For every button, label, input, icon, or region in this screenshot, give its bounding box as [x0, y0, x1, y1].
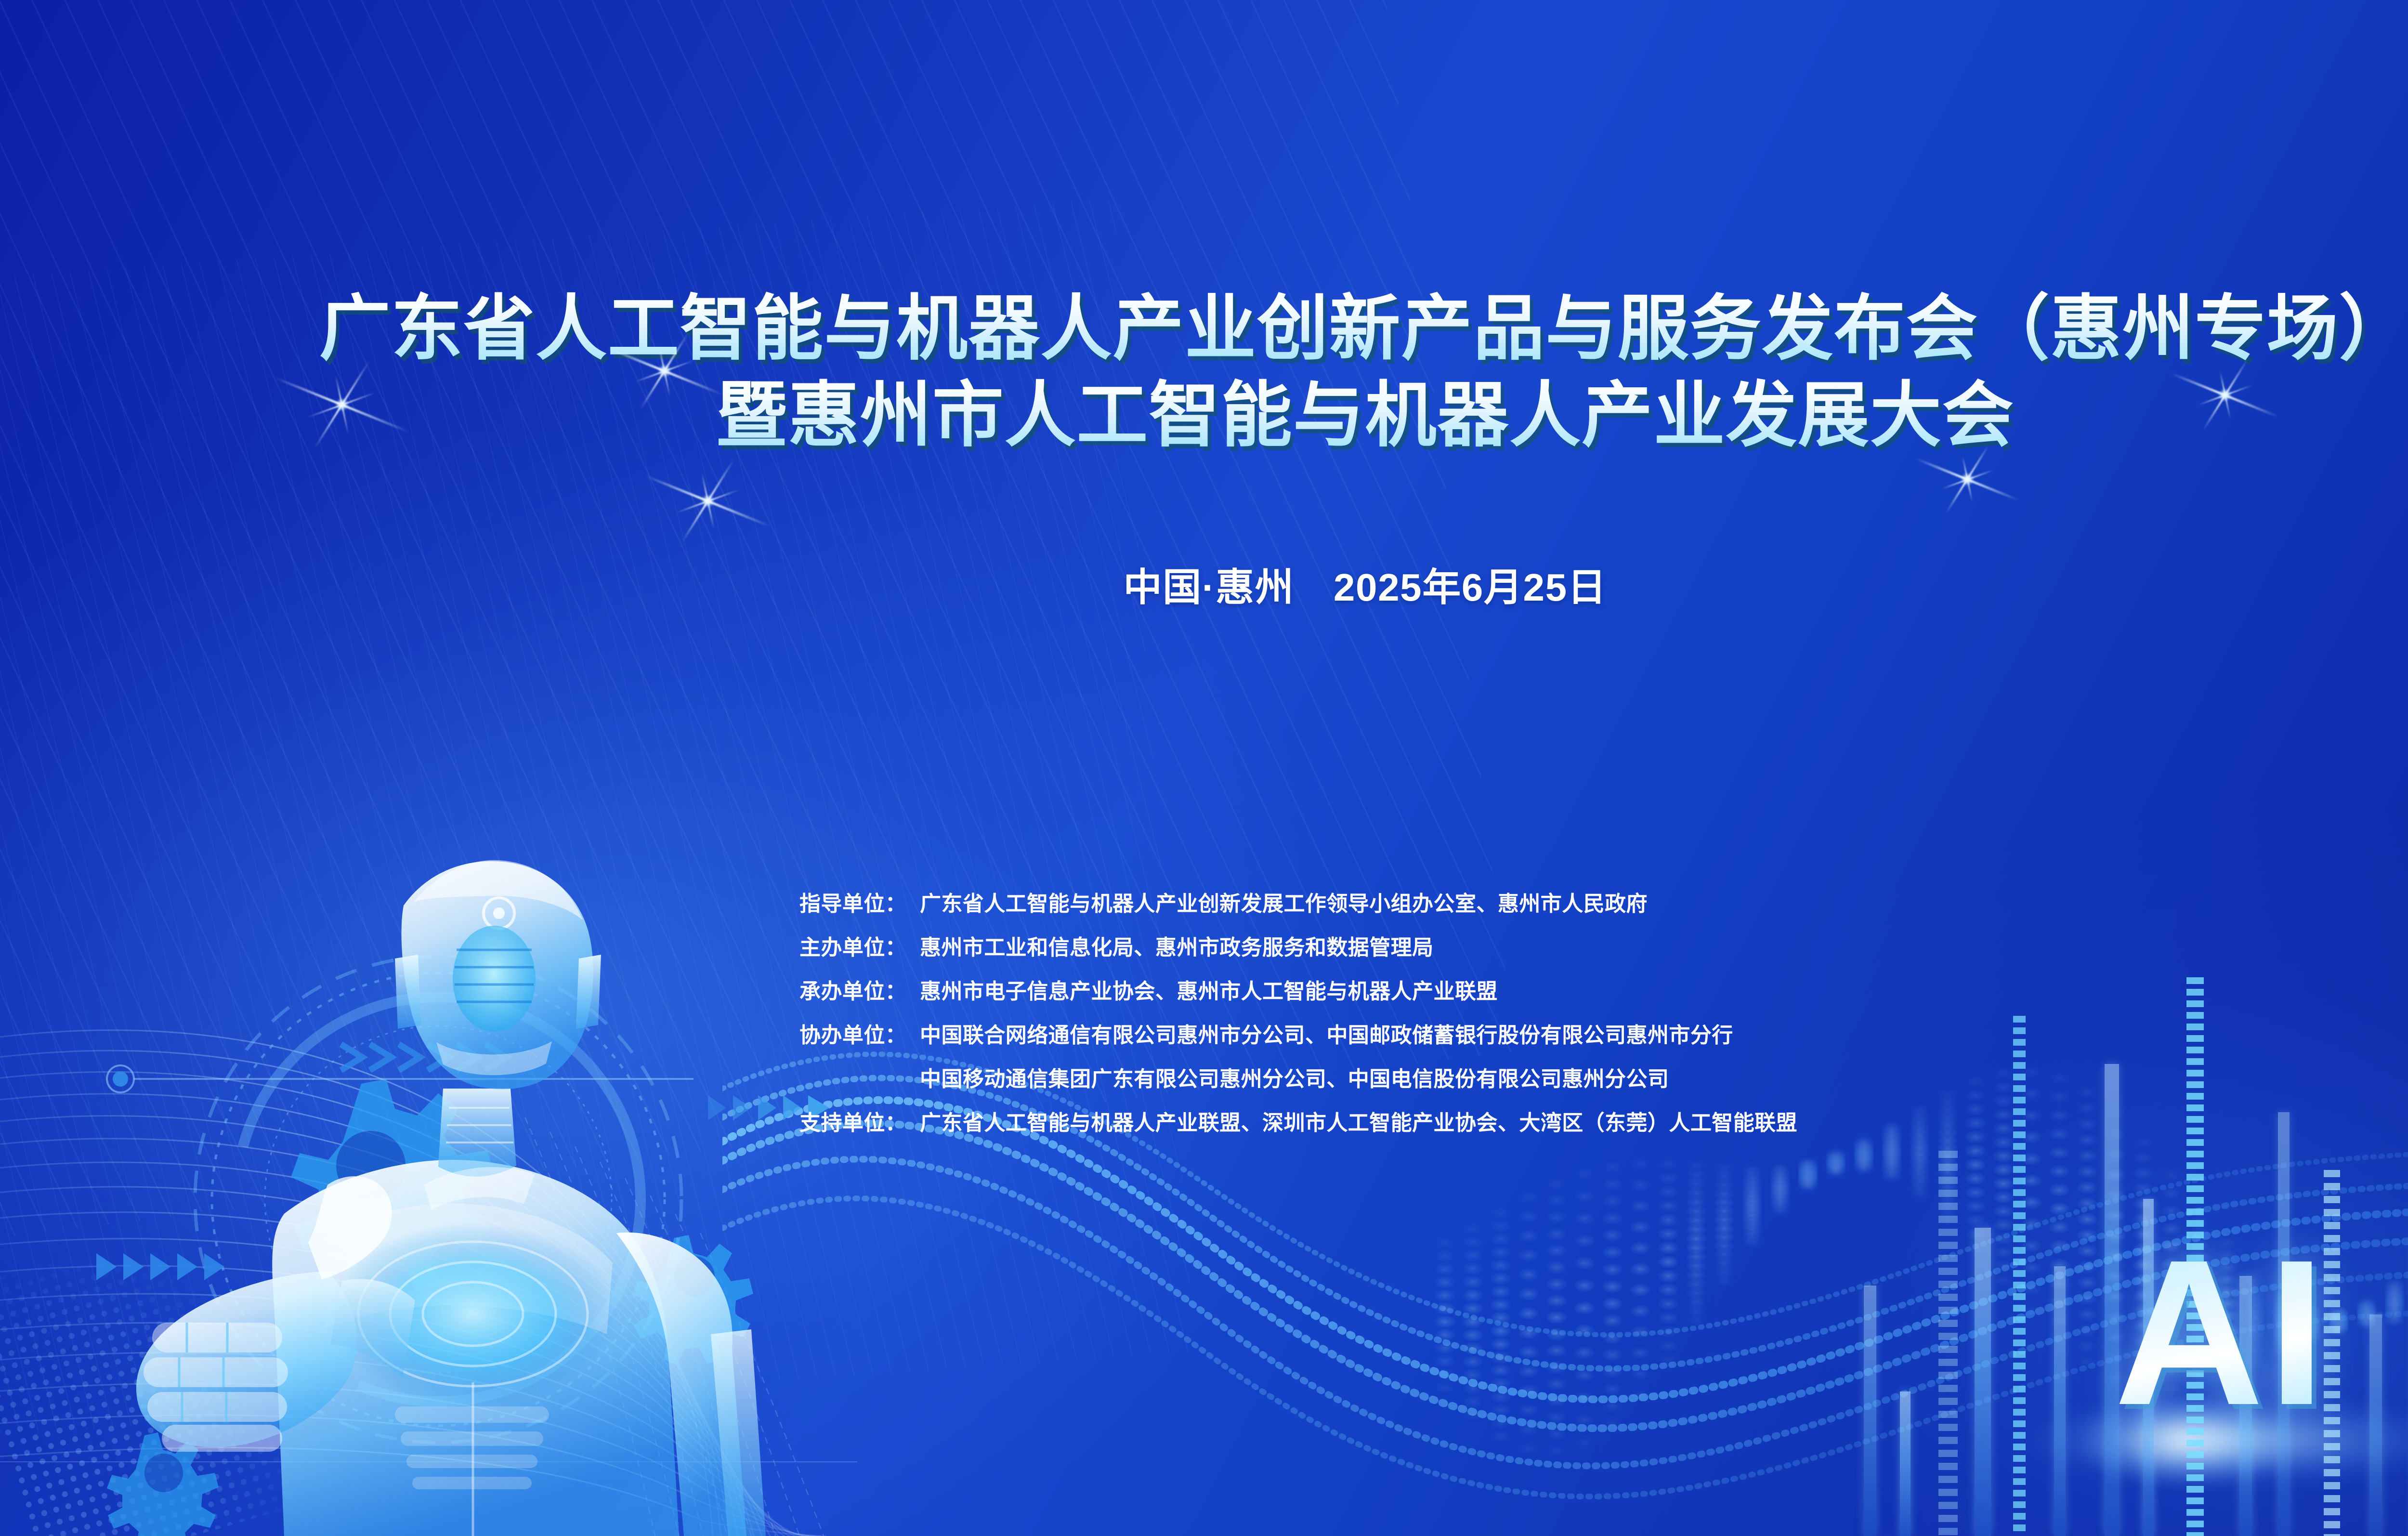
wave-dot — [1630, 1242, 1650, 1254]
equalizer-bar — [2369, 1314, 2382, 1536]
organizer-value: 广东省人工智能与机器人产业联盟、深圳市人工智能产业协会、大湾区（东莞）人工智能联… — [920, 1105, 1797, 1136]
wave-dot — [1518, 1423, 1539, 1435]
conference-backdrop-poster: AI 广东省人工智能与机器人产业创新产品与服务发布会（惠州专场） 暨惠州市人工智… — [0, 0, 2408, 1536]
wave-dot — [1463, 1249, 1483, 1261]
wave-dot — [1602, 1314, 1623, 1327]
wave-dot — [1435, 1342, 1455, 1354]
wave-dot — [1435, 1315, 1455, 1328]
wave-dot — [1518, 1191, 1539, 1204]
organizer-value: 中国联合网络通信有限公司惠州市分公司、中国邮政储蓄银行股份有限公司惠州市分行 — [920, 1018, 1733, 1049]
wave-dot — [1602, 1298, 1623, 1310]
wave-dot — [1546, 1261, 1567, 1273]
wave-dot — [1518, 1404, 1539, 1416]
equalizer-bar — [1900, 1392, 1911, 1536]
wave-dot — [1491, 1220, 1511, 1232]
organizer-row: 指导单位：广东省人工智能与机器人产业创新发展工作领导小组办公室、惠州市人民政府 — [799, 886, 1797, 917]
wave-dot — [1658, 1214, 1678, 1226]
wave-dot — [1518, 1443, 1539, 1455]
wave-dot — [1826, 1167, 1846, 1179]
wave-dot — [1435, 1276, 1455, 1288]
wave-dot — [1574, 1168, 1595, 1180]
sparkle-ray — [1941, 469, 1994, 489]
wave-dot — [1602, 1280, 1623, 1293]
wave-dot — [1463, 1329, 1483, 1341]
wave-dot — [1574, 1324, 1595, 1337]
wave-dot — [1518, 1230, 1539, 1242]
wave-dot — [1546, 1245, 1567, 1257]
wave-dot — [1798, 1181, 1818, 1193]
wave-dot — [1658, 1298, 1678, 1310]
wave-dot — [1491, 1351, 1511, 1364]
wave-dot — [1574, 1234, 1595, 1247]
wave-dot — [1574, 1212, 1595, 1225]
wave-dot — [1491, 1312, 1511, 1324]
wave-dot — [1658, 1158, 1678, 1170]
wave-dot — [1658, 1200, 1678, 1212]
organizer-row: 主办单位：惠州市工业和信息化局、惠州市政务服务和数据管理局 — [799, 930, 1797, 961]
wave-dot — [1463, 1302, 1483, 1315]
wave-dot — [1491, 1272, 1511, 1285]
wave-dot — [1518, 1268, 1539, 1281]
organizer-label: 承办单位： — [799, 974, 920, 1005]
wave-dot — [1546, 1278, 1567, 1290]
ai-wordmark: AI — [2114, 1214, 2329, 1452]
wave-dot — [1518, 1384, 1539, 1397]
wave-dot — [1602, 1383, 1623, 1395]
wave-dot — [1630, 1179, 1650, 1191]
wave-dot — [1546, 1428, 1567, 1441]
wave-dot — [1630, 1284, 1650, 1296]
wave-dot — [1546, 1361, 1567, 1374]
wave-dot — [1491, 1378, 1511, 1390]
wave-dot — [1574, 1414, 1595, 1426]
wave-dot — [1435, 1236, 1455, 1249]
wave-dot — [1658, 1284, 1678, 1296]
wave-dot — [1630, 1263, 1650, 1275]
wave-dot — [1546, 1311, 1567, 1324]
wave-dot — [1463, 1409, 1483, 1421]
wave-dot — [1602, 1400, 1623, 1412]
organizer-label: 支持单位： — [799, 1105, 920, 1136]
wave-dot — [1518, 1210, 1539, 1223]
organizer-value: 中国移动通信集团广东有限公司惠州分公司、中国电信股份有限公司惠州分公司 — [920, 1062, 1669, 1092]
wave-dot — [1630, 1158, 1650, 1170]
wave-dot — [1658, 1312, 1678, 1324]
sparkle-ray — [681, 459, 734, 543]
equalizer-bar — [1975, 1228, 1991, 1536]
wave-dot — [1463, 1315, 1483, 1328]
wave-dot — [1518, 1326, 1539, 1339]
wave-dot — [1602, 1417, 1623, 1430]
wave-dot — [1658, 1228, 1678, 1240]
wave-dot — [1435, 1368, 1455, 1380]
organizer-row: 承办单位：惠州市电子信息产业协会、惠州市人工智能与机器人产业联盟 — [799, 974, 1797, 1005]
wave-dot — [1463, 1289, 1483, 1301]
wave-dot — [1491, 1259, 1511, 1272]
organizer-value: 惠州市工业和信息化局、惠州市政务服务和数据管理局 — [920, 930, 1434, 961]
wave-dot — [1658, 1172, 1678, 1184]
wave-dot — [1770, 1205, 1790, 1217]
organizer-value: 惠州市电子信息产业协会、惠州市人工智能与机器人产业联盟 — [920, 974, 1498, 1005]
wave-dot — [1491, 1299, 1511, 1311]
wave-dot — [1574, 1257, 1595, 1270]
sparkle-core — [702, 495, 714, 507]
wave-dot — [1435, 1263, 1455, 1275]
organizer-label: 主办单位： — [799, 930, 920, 961]
wave-dot — [1463, 1276, 1483, 1288]
page-title: 广东省人工智能与机器人产业创新产品与服务发布会（惠州专场） 暨惠州市人工智能与机… — [0, 289, 2408, 456]
wave-dot — [1491, 1364, 1511, 1377]
wave-dot — [1463, 1262, 1483, 1275]
wave-dot — [1602, 1178, 1623, 1190]
wave-dot — [1491, 1207, 1511, 1219]
equalizer-bar — [2013, 1016, 2026, 1536]
wave-dot — [1435, 1328, 1455, 1341]
wave-dot — [1491, 1417, 1511, 1429]
wave-dot — [1574, 1347, 1595, 1359]
wave-dot — [1658, 1270, 1678, 1282]
wave-dot — [1574, 1279, 1595, 1292]
wave-dot — [1546, 1228, 1567, 1240]
wave-dot — [1714, 1274, 1734, 1287]
wave-dot — [1686, 1314, 1706, 1327]
wave-dot — [1546, 1178, 1567, 1190]
wave-dot — [1546, 1328, 1567, 1340]
wave-dot — [1630, 1389, 1650, 1401]
wave-dot — [1602, 1349, 1623, 1361]
sparkle-ray — [701, 473, 714, 529]
wave-dot — [1491, 1286, 1511, 1298]
wave-dot — [1463, 1395, 1483, 1408]
wave-dot — [1658, 1186, 1678, 1198]
title-line-1: 广东省人工智能与机器人产业创新产品与服务发布会（惠州专场） — [0, 289, 2408, 369]
organizer-row: 协办单位：中国移动通信集团广东有限公司惠州分公司、中国电信股份有限公司惠州分公司 — [799, 1062, 1797, 1092]
wave-dot — [1463, 1369, 1483, 1381]
wave-dot — [1463, 1355, 1483, 1368]
wave-dot — [1574, 1369, 1595, 1381]
wave-dot — [1574, 1391, 1595, 1404]
wave-dot — [1518, 1307, 1539, 1320]
wave-dot — [1602, 1229, 1623, 1242]
wave-dot — [1630, 1200, 1650, 1212]
wave-dot — [1491, 1338, 1511, 1351]
wave-dot — [1491, 1325, 1511, 1338]
wave-dot — [1491, 1233, 1511, 1246]
wave-dot — [1630, 1368, 1650, 1380]
sparkle-ray — [1962, 456, 1973, 502]
wave-dot — [1463, 1222, 1483, 1235]
wave-dot — [1630, 1347, 1650, 1359]
wave-dot — [1435, 1250, 1455, 1262]
wave-dot — [1658, 1326, 1678, 1338]
wave-dot — [1491, 1391, 1511, 1403]
wave-dot — [1518, 1365, 1539, 1378]
wave-dot — [1435, 1289, 1455, 1302]
wave-dot — [1435, 1381, 1455, 1393]
sparkle-core — [1961, 473, 1974, 486]
wave-dot — [1518, 1288, 1539, 1300]
wave-dot — [1546, 1294, 1567, 1307]
wave-dot — [1463, 1342, 1483, 1355]
wave-dot — [1574, 1190, 1595, 1202]
organizer-label: 指导单位： — [799, 886, 920, 917]
wave-dot — [1518, 1346, 1539, 1358]
wave-dot — [1630, 1326, 1650, 1339]
wave-dot — [1630, 1221, 1650, 1234]
wave-dot — [1658, 1339, 1678, 1352]
wave-dot — [1602, 1365, 1623, 1378]
wave-dot — [1546, 1394, 1567, 1407]
wave-dot — [1658, 1256, 1678, 1268]
wave-dot — [1546, 1344, 1567, 1357]
equalizer-bar — [2054, 1266, 2066, 1536]
wave-dot — [1491, 1430, 1511, 1443]
wave-dot — [1463, 1236, 1483, 1248]
organizer-label: 协办单位： — [799, 1018, 920, 1049]
wave-dot — [1546, 1411, 1567, 1424]
wave-dot — [1742, 1236, 1762, 1249]
wave-dot — [1435, 1355, 1455, 1367]
organizer-row: 支持单位：广东省人工智能与机器人产业联盟、深圳市人工智能产业协会、大湾区（东莞）… — [799, 1105, 1797, 1136]
sparkle-ray — [645, 474, 771, 527]
robot-figure — [58, 848, 838, 1536]
wave-dot — [1574, 1436, 1595, 1448]
sparkle-ray — [676, 489, 740, 513]
wave-dot — [1658, 1353, 1678, 1366]
wave-dot — [1546, 1444, 1567, 1457]
wave-dot — [1602, 1161, 1623, 1173]
wave-dot — [1435, 1302, 1455, 1315]
equalizer-bar — [1864, 1286, 1876, 1536]
wave-dot — [1546, 1195, 1567, 1207]
wave-dot — [1602, 1263, 1623, 1276]
organizer-value: 广东省人工智能与机器人产业创新发展工作领导小组办公室、惠州市人民政府 — [920, 886, 1648, 917]
wave-dot — [1630, 1305, 1650, 1317]
equalizer-bar — [1938, 1151, 1958, 1536]
sparkle-ray — [1915, 458, 2019, 501]
wave-dot — [1546, 1378, 1567, 1391]
wave-dot — [1602, 1212, 1623, 1224]
wave-dot — [1491, 1404, 1511, 1416]
wave-dot — [1491, 1246, 1511, 1259]
wave-dot — [1602, 1332, 1623, 1344]
title-line-2: 暨惠州市人工智能与机器人产业发展大会 — [0, 376, 2408, 456]
wave-dot — [1574, 1302, 1595, 1314]
wave-dot — [1602, 1195, 1623, 1208]
wave-dot — [1658, 1242, 1678, 1254]
wave-dot — [1602, 1246, 1623, 1259]
organizer-list: 指导单位：广东省人工智能与机器人产业创新发展工作领导小组办公室、惠州市人民政府主… — [799, 886, 1797, 1149]
organizer-row: 协办单位：中国联合网络通信有限公司惠州市分公司、中国邮政储蓄银行股份有限公司惠州… — [799, 1018, 1797, 1049]
wave-dot — [1546, 1211, 1567, 1223]
wave-dot — [1463, 1382, 1483, 1394]
location-and-date: 中国·惠州 2025年6月25日 — [0, 556, 2408, 612]
wave-dot — [1518, 1249, 1539, 1261]
